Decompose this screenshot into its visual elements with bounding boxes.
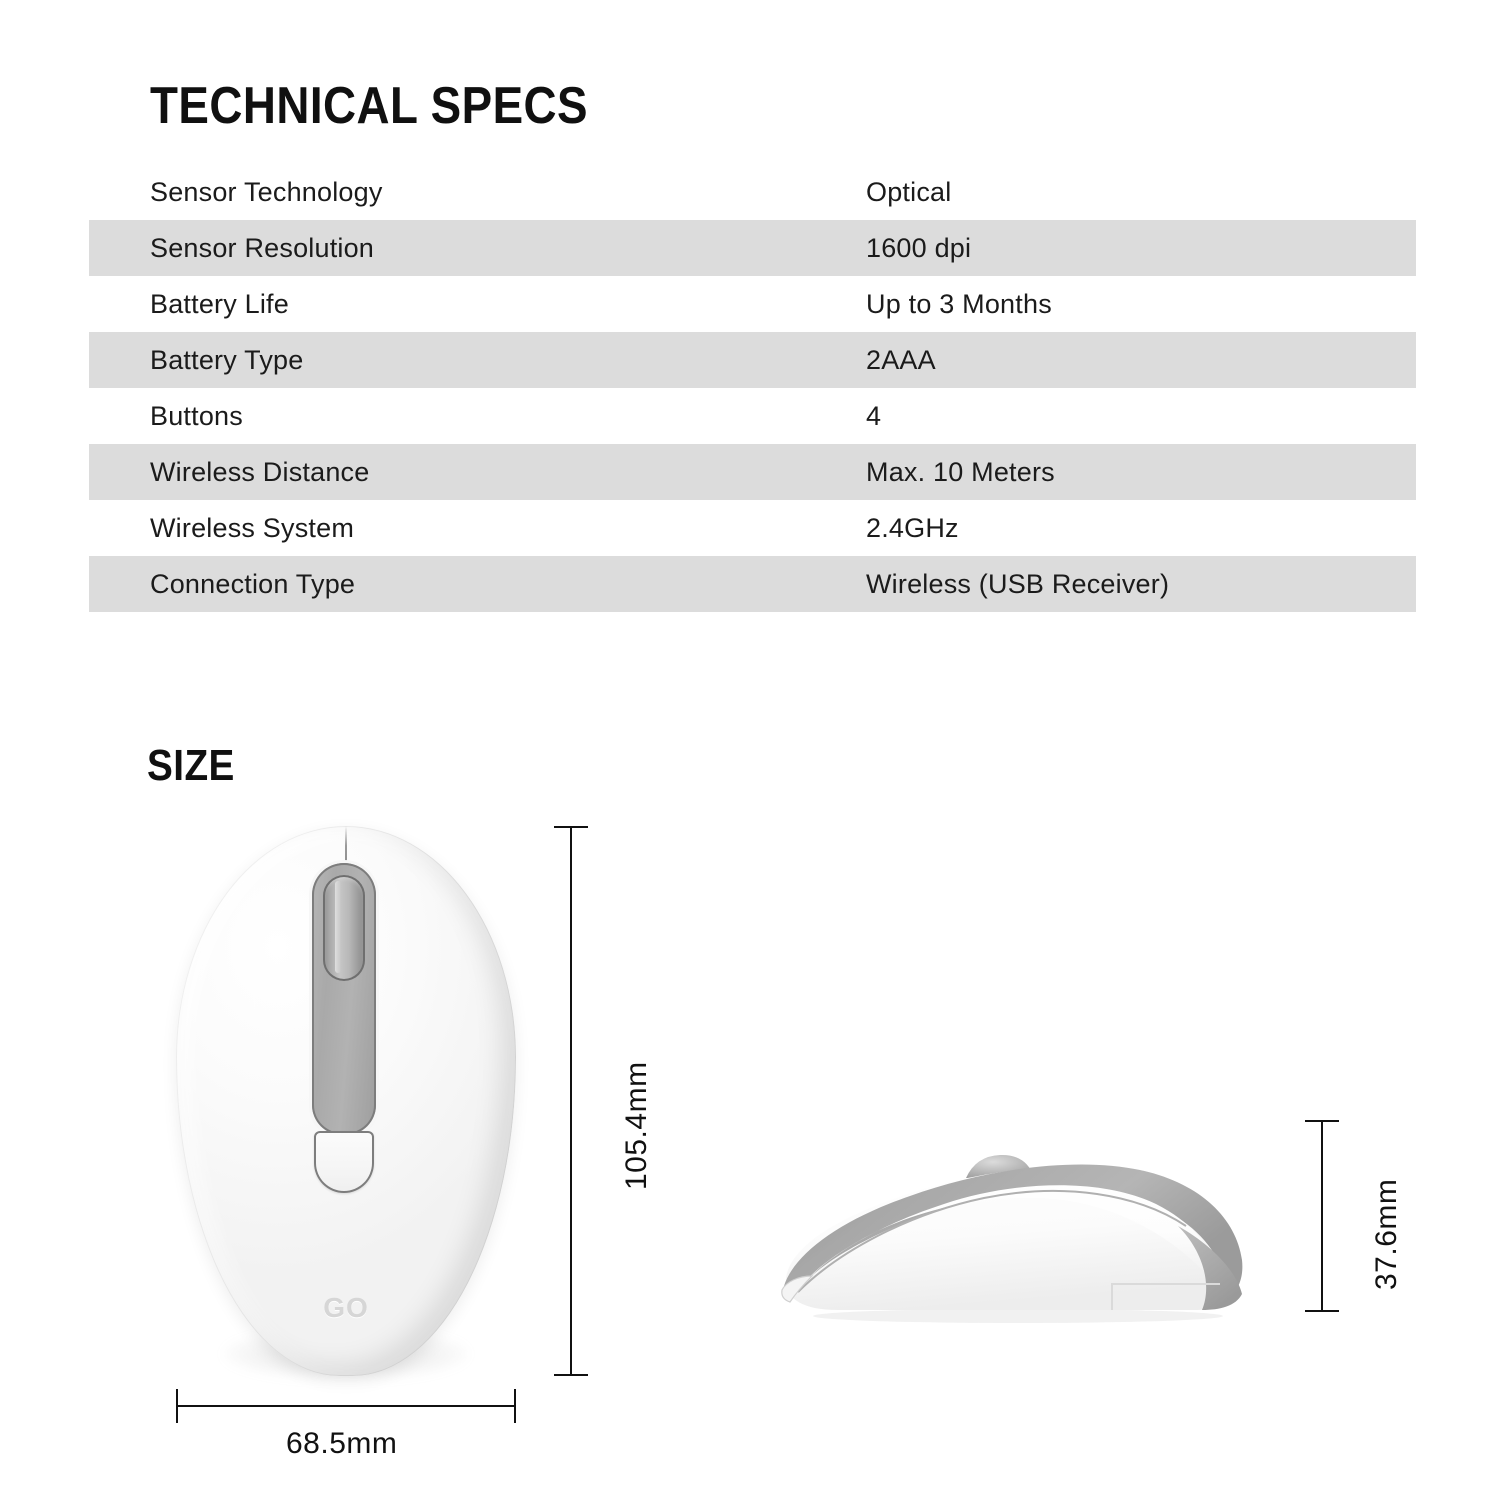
size-section-title: SIZE [147, 742, 235, 790]
spec-row: Wireless DistanceMax. 10 Meters [89, 444, 1416, 500]
spec-table: Sensor TechnologyOpticalSensor Resolutio… [89, 164, 1416, 612]
spec-label: Connection Type [89, 569, 866, 600]
spec-value: Wireless (USB Receiver) [866, 569, 1416, 600]
spec-row: Wireless System2.4GHz [89, 500, 1416, 556]
dim-label-width: 68.5mm [286, 1427, 397, 1461]
mouse-dpi-button [314, 1131, 374, 1193]
spec-value: Max. 10 Meters [866, 457, 1416, 488]
spec-value: Up to 3 Months [866, 289, 1416, 320]
spec-label: Battery Life [89, 289, 866, 320]
spec-row: Buttons4 [89, 388, 1416, 444]
spec-row: Battery Type2AAA [89, 332, 1416, 388]
spec-row: Connection TypeWireless (USB Receiver) [89, 556, 1416, 612]
spec-row: Sensor TechnologyOptical [89, 164, 1416, 220]
spec-label: Battery Type [89, 345, 866, 376]
dim-cap-right [514, 1389, 516, 1423]
spec-label: Wireless System [89, 513, 866, 544]
size-diagram: GO [0, 800, 1500, 1500]
dim-line-vertical [570, 826, 572, 1376]
mouse-center-strip [312, 863, 376, 1135]
scroll-wheel-icon [323, 875, 365, 981]
mouse-side-view-image [768, 1110, 1268, 1330]
spec-value: 1600 dpi [866, 233, 1416, 264]
spec-value: 2.4GHz [866, 513, 1416, 544]
page-title: TECHNICAL SPECS [150, 78, 588, 134]
spec-label: Wireless Distance [89, 457, 866, 488]
mouse-top-view-image: GO [176, 826, 516, 1376]
spec-label: Buttons [89, 401, 866, 432]
dim-line-horizontal [176, 1405, 516, 1407]
dim-label-side-height: 37.6mm [1370, 1179, 1404, 1290]
mouse-side-shadow [813, 1309, 1223, 1323]
dim-line-vertical [1321, 1120, 1323, 1312]
spec-row: Sensor Resolution1600 dpi [89, 220, 1416, 276]
spec-label: Sensor Technology [89, 177, 866, 208]
brand-logo: GO [176, 1292, 516, 1324]
mouse-side-svg [768, 1110, 1268, 1330]
spec-row: Battery LifeUp to 3 Months [89, 276, 1416, 332]
spec-value: Optical [866, 177, 1416, 208]
spec-label: Sensor Resolution [89, 233, 866, 264]
dim-cap-bottom [1305, 1310, 1339, 1312]
spec-value: 2AAA [866, 345, 1416, 376]
spec-value: 4 [866, 401, 1416, 432]
dim-label-height: 105.4mm [620, 1061, 654, 1190]
dim-cap-bottom [554, 1374, 588, 1376]
